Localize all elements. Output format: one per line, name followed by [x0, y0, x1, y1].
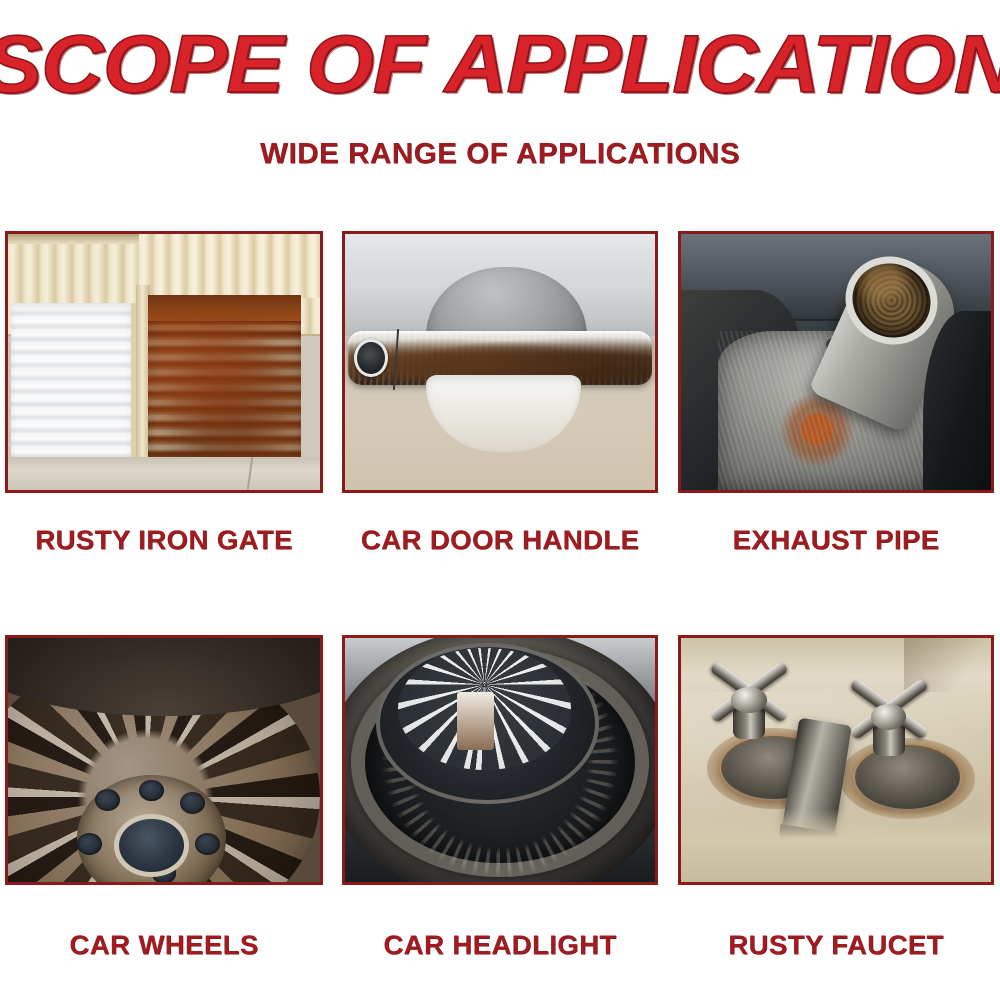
- faucet-handle-left: [709, 672, 790, 735]
- gallery-item-car-door-handle[interactable]: [342, 231, 658, 493]
- handle-knob: [871, 704, 906, 729]
- lug-hole: [180, 792, 205, 814]
- photo-rusty-faucet: [681, 638, 991, 882]
- photo-frame: [678, 231, 994, 493]
- gallery-item-car-headlight[interactable]: [342, 635, 658, 885]
- caption-car-wheels: CAR WHEELS: [2, 930, 326, 960]
- rusted-roll-up-door: [148, 295, 301, 456]
- hub-cap-center: [114, 814, 189, 877]
- lug-hole: [77, 833, 102, 855]
- concrete-ground: [8, 457, 320, 490]
- faucet-base-right: [855, 745, 960, 808]
- photo-frame: [342, 635, 658, 885]
- metal-siding-upper-right: [139, 234, 320, 298]
- caption-car-door-handle: CAR DOOR HANDLE: [339, 525, 661, 555]
- gallery-item-car-wheels[interactable]: [5, 635, 323, 885]
- scope-of-application-infographic: SCOPE OF APPLICATION WIDE RANGE OF APPLI…: [0, 0, 1000, 1000]
- caption-rusty-iron-gate: RUSTY IRON GATE: [2, 525, 326, 555]
- photo-car-door-handle: [345, 234, 655, 490]
- handle-knob: [731, 687, 766, 712]
- photo-frame: [5, 231, 323, 493]
- application-gallery-grid: RUSTY IRON GATE CAR DOOR HANDLE: [0, 0, 1000, 1000]
- tire: [8, 638, 320, 716]
- photo-car-headlight: [345, 638, 655, 882]
- photo-car-wheels: [8, 638, 320, 882]
- photo-frame: [342, 231, 658, 493]
- door-cup: [426, 375, 581, 452]
- caption-rusty-faucet: RUSTY FAUCET: [675, 930, 997, 960]
- gallery-item-rusty-faucet[interactable]: [678, 635, 994, 885]
- sink-basin: [681, 809, 991, 882]
- caption-exhaust-pipe: EXHAUST PIPE: [675, 525, 997, 555]
- photo-rusty-iron-gate: [8, 234, 320, 490]
- clean-roll-up-door: [11, 303, 136, 457]
- photo-frame: [678, 635, 994, 885]
- caption-car-headlight: CAR HEADLIGHT: [339, 930, 661, 960]
- gallery-item-rusty-iron-gate[interactable]: [5, 231, 323, 493]
- bulb: [457, 692, 494, 751]
- gallery-item-exhaust-pipe[interactable]: [678, 231, 994, 493]
- photo-frame: [5, 635, 323, 885]
- faucet-handle-right: [848, 689, 929, 752]
- photo-exhaust-pipe: [681, 234, 991, 490]
